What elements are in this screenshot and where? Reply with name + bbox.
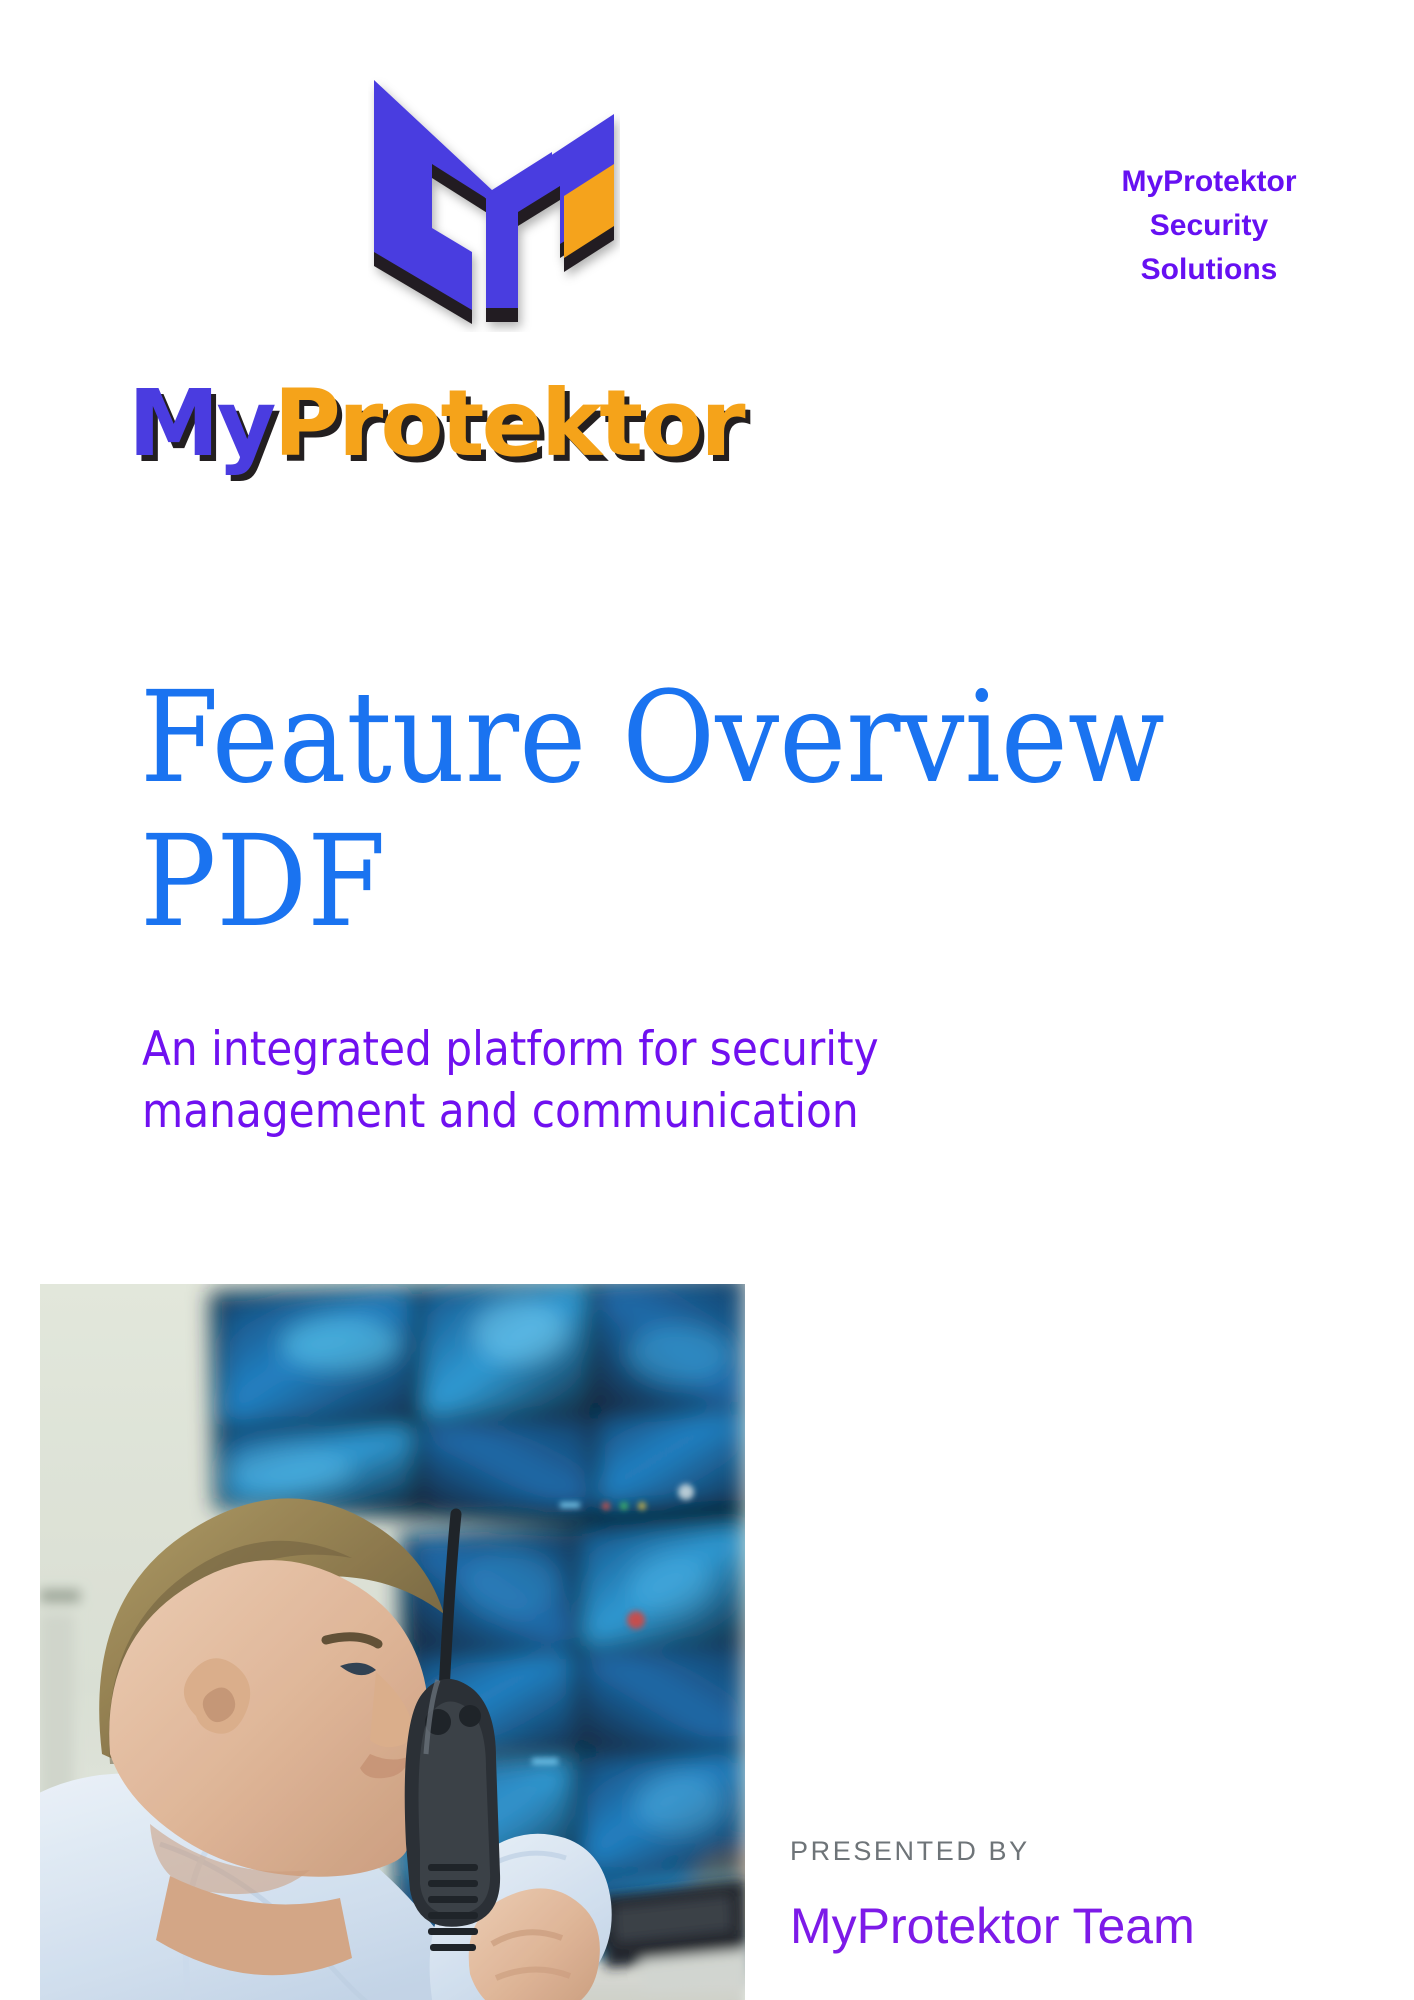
presented-by-label: PRESENTED BY	[790, 1838, 1350, 1865]
company-header-line-3: Solutions	[1059, 248, 1359, 292]
company-header-line-2: Security	[1059, 204, 1359, 248]
company-header-line-1: MyProtektor	[1059, 160, 1359, 204]
wordmark-my: My	[128, 370, 274, 477]
presented-by-block: PRESENTED BY MyProtektor Team	[790, 1838, 1350, 1951]
myprotektor-shield-monogram-icon	[368, 70, 620, 332]
company-header: MyProtektor Security Solutions	[1059, 160, 1359, 292]
presented-by-name: MyProtektor Team	[790, 1901, 1350, 1951]
page-title: Feature Overview PDF	[140, 666, 1270, 953]
brand-wordmark: MyProtektor	[128, 378, 743, 470]
cover-page: MyProtektor MyProtektor Security Solutio…	[0, 0, 1414, 2000]
cover-photo-security-control-room	[40, 1284, 745, 2000]
wordmark-protektor: Protektor	[274, 370, 743, 477]
page-subtitle: An integrated platform for security mana…	[142, 1019, 1052, 1143]
